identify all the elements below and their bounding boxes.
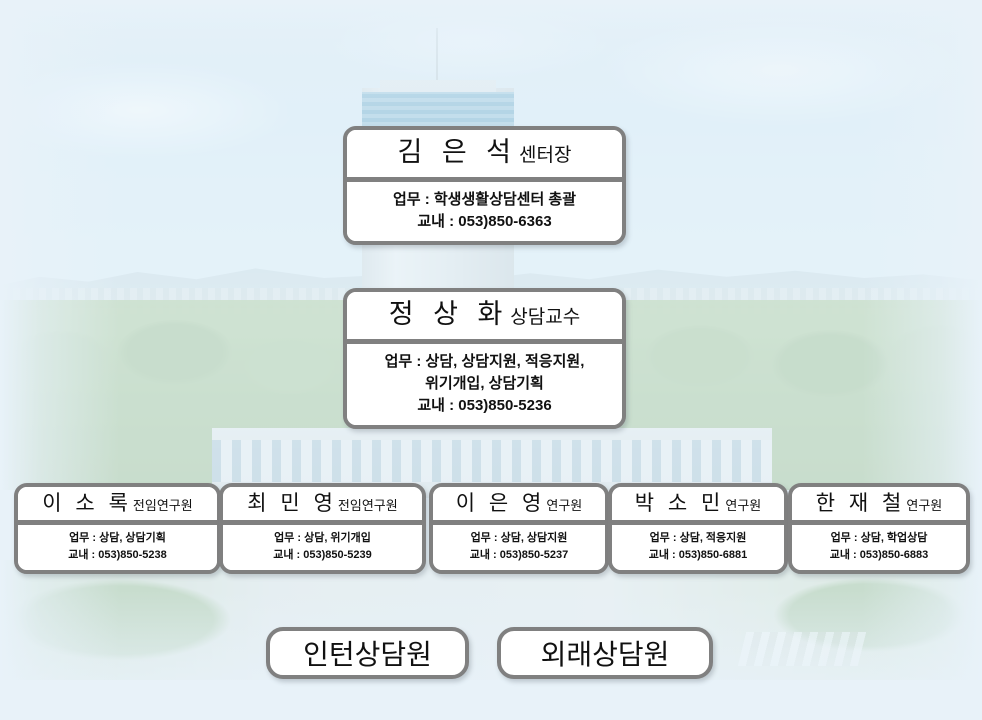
extension-line: 교내 : 053)850-6363 xyxy=(347,211,622,233)
person-title: 상담교수 xyxy=(510,302,580,329)
card-body: 업무 : 상담, 상담지원 교내 : 053)850-5237 xyxy=(433,525,605,570)
card-header: 박 소 민 연구원 xyxy=(612,487,784,525)
duty-line: 업무 : 상담, 상담기획 xyxy=(18,530,217,547)
extension-line: 교내 : 053)850-6881 xyxy=(612,547,784,564)
duty-line: 업무 : 상담, 학업상담 xyxy=(792,530,966,547)
card-body: 업무 : 상담, 학업상담 교내 : 053)850-6883 xyxy=(792,525,966,570)
card-body: 업무 : 상담, 적응지원 교내 : 053)850-6881 xyxy=(612,525,784,570)
card-header: 이 소 록 전임연구원 xyxy=(18,487,217,525)
org-chart: 김 은 석 센터장 업무 : 학생생활상담센터 총괄 교내 : 053)850-… xyxy=(0,0,982,720)
extension-line: 교내 : 053)850-6883 xyxy=(792,547,966,564)
card-body: 업무 : 학생생활상담센터 총괄 교내 : 053)850-6363 xyxy=(347,182,622,241)
person-title: 센터장 xyxy=(519,140,571,167)
person-title: 전임연구원 xyxy=(133,495,193,514)
extension-line: 교내 : 053)850-5238 xyxy=(18,547,217,564)
duty-line-2: 위기개입, 상담기획 xyxy=(347,373,622,395)
person-title: 연구원 xyxy=(546,495,582,514)
org-card-center-director: 김 은 석 센터장 업무 : 학생생활상담센터 총괄 교내 : 053)850-… xyxy=(343,126,626,245)
extension-line: 교내 : 053)850-5239 xyxy=(223,547,422,564)
extension-line: 교내 : 053)850-5237 xyxy=(433,547,605,564)
person-name: 이 은 영 xyxy=(456,487,546,517)
org-card-external-counselor: 외래상담원 xyxy=(497,627,713,679)
card-header: 이 은 영 연구원 xyxy=(433,487,605,525)
org-card-researcher-2: 최 민 영 전임연구원 업무 : 상담, 위기개입 교내 : 053)850-5… xyxy=(219,483,426,574)
duty-line: 업무 : 상담, 적응지원 xyxy=(612,530,784,547)
duty-line: 업무 : 상담, 위기개입 xyxy=(223,530,422,547)
person-title: 연구원 xyxy=(725,495,761,514)
pill-label: 인턴상담원 xyxy=(303,633,432,673)
person-title: 연구원 xyxy=(906,495,942,514)
card-body: 업무 : 상담, 상담지원, 적응지원, 위기개입, 상담기획 교내 : 053… xyxy=(347,344,622,425)
org-card-intern-counselor: 인턴상담원 xyxy=(266,627,469,679)
org-card-researcher-3: 이 은 영 연구원 업무 : 상담, 상담지원 교내 : 053)850-523… xyxy=(429,483,609,574)
person-name: 최 민 영 xyxy=(247,487,337,517)
person-title: 전임연구원 xyxy=(338,495,398,514)
card-header: 최 민 영 전임연구원 xyxy=(223,487,422,525)
org-card-researcher-4: 박 소 민 연구원 업무 : 상담, 적응지원 교내 : 053)850-688… xyxy=(608,483,788,574)
person-name: 김 은 석 xyxy=(398,130,518,169)
duty-line: 업무 : 상담, 상담지원 xyxy=(433,530,605,547)
card-header: 김 은 석 센터장 xyxy=(347,130,622,182)
card-body: 업무 : 상담, 상담기획 교내 : 053)850-5238 xyxy=(18,525,217,570)
card-body: 업무 : 상담, 위기개입 교내 : 053)850-5239 xyxy=(223,525,422,570)
extension-line: 교내 : 053)850-5236 xyxy=(347,395,622,417)
person-name: 한 재 철 xyxy=(816,487,906,517)
person-name: 이 소 록 xyxy=(42,487,132,517)
pill-label: 외래상담원 xyxy=(541,633,670,673)
card-header: 한 재 철 연구원 xyxy=(792,487,966,525)
org-card-researcher-1: 이 소 록 전임연구원 업무 : 상담, 상담기획 교내 : 053)850-5… xyxy=(14,483,221,574)
org-card-counseling-professor: 정 상 화 상담교수 업무 : 상담, 상담지원, 적응지원, 위기개입, 상담… xyxy=(343,288,626,429)
org-card-researcher-5: 한 재 철 연구원 업무 : 상담, 학업상담 교내 : 053)850-688… xyxy=(788,483,970,574)
person-name: 정 상 화 xyxy=(389,292,509,331)
card-header: 정 상 화 상담교수 xyxy=(347,292,622,344)
person-name: 박 소 민 xyxy=(635,487,725,517)
duty-line: 업무 : 학생생활상담센터 총괄 xyxy=(347,189,622,211)
duty-line-1: 업무 : 상담, 상담지원, 적응지원, xyxy=(347,351,622,373)
